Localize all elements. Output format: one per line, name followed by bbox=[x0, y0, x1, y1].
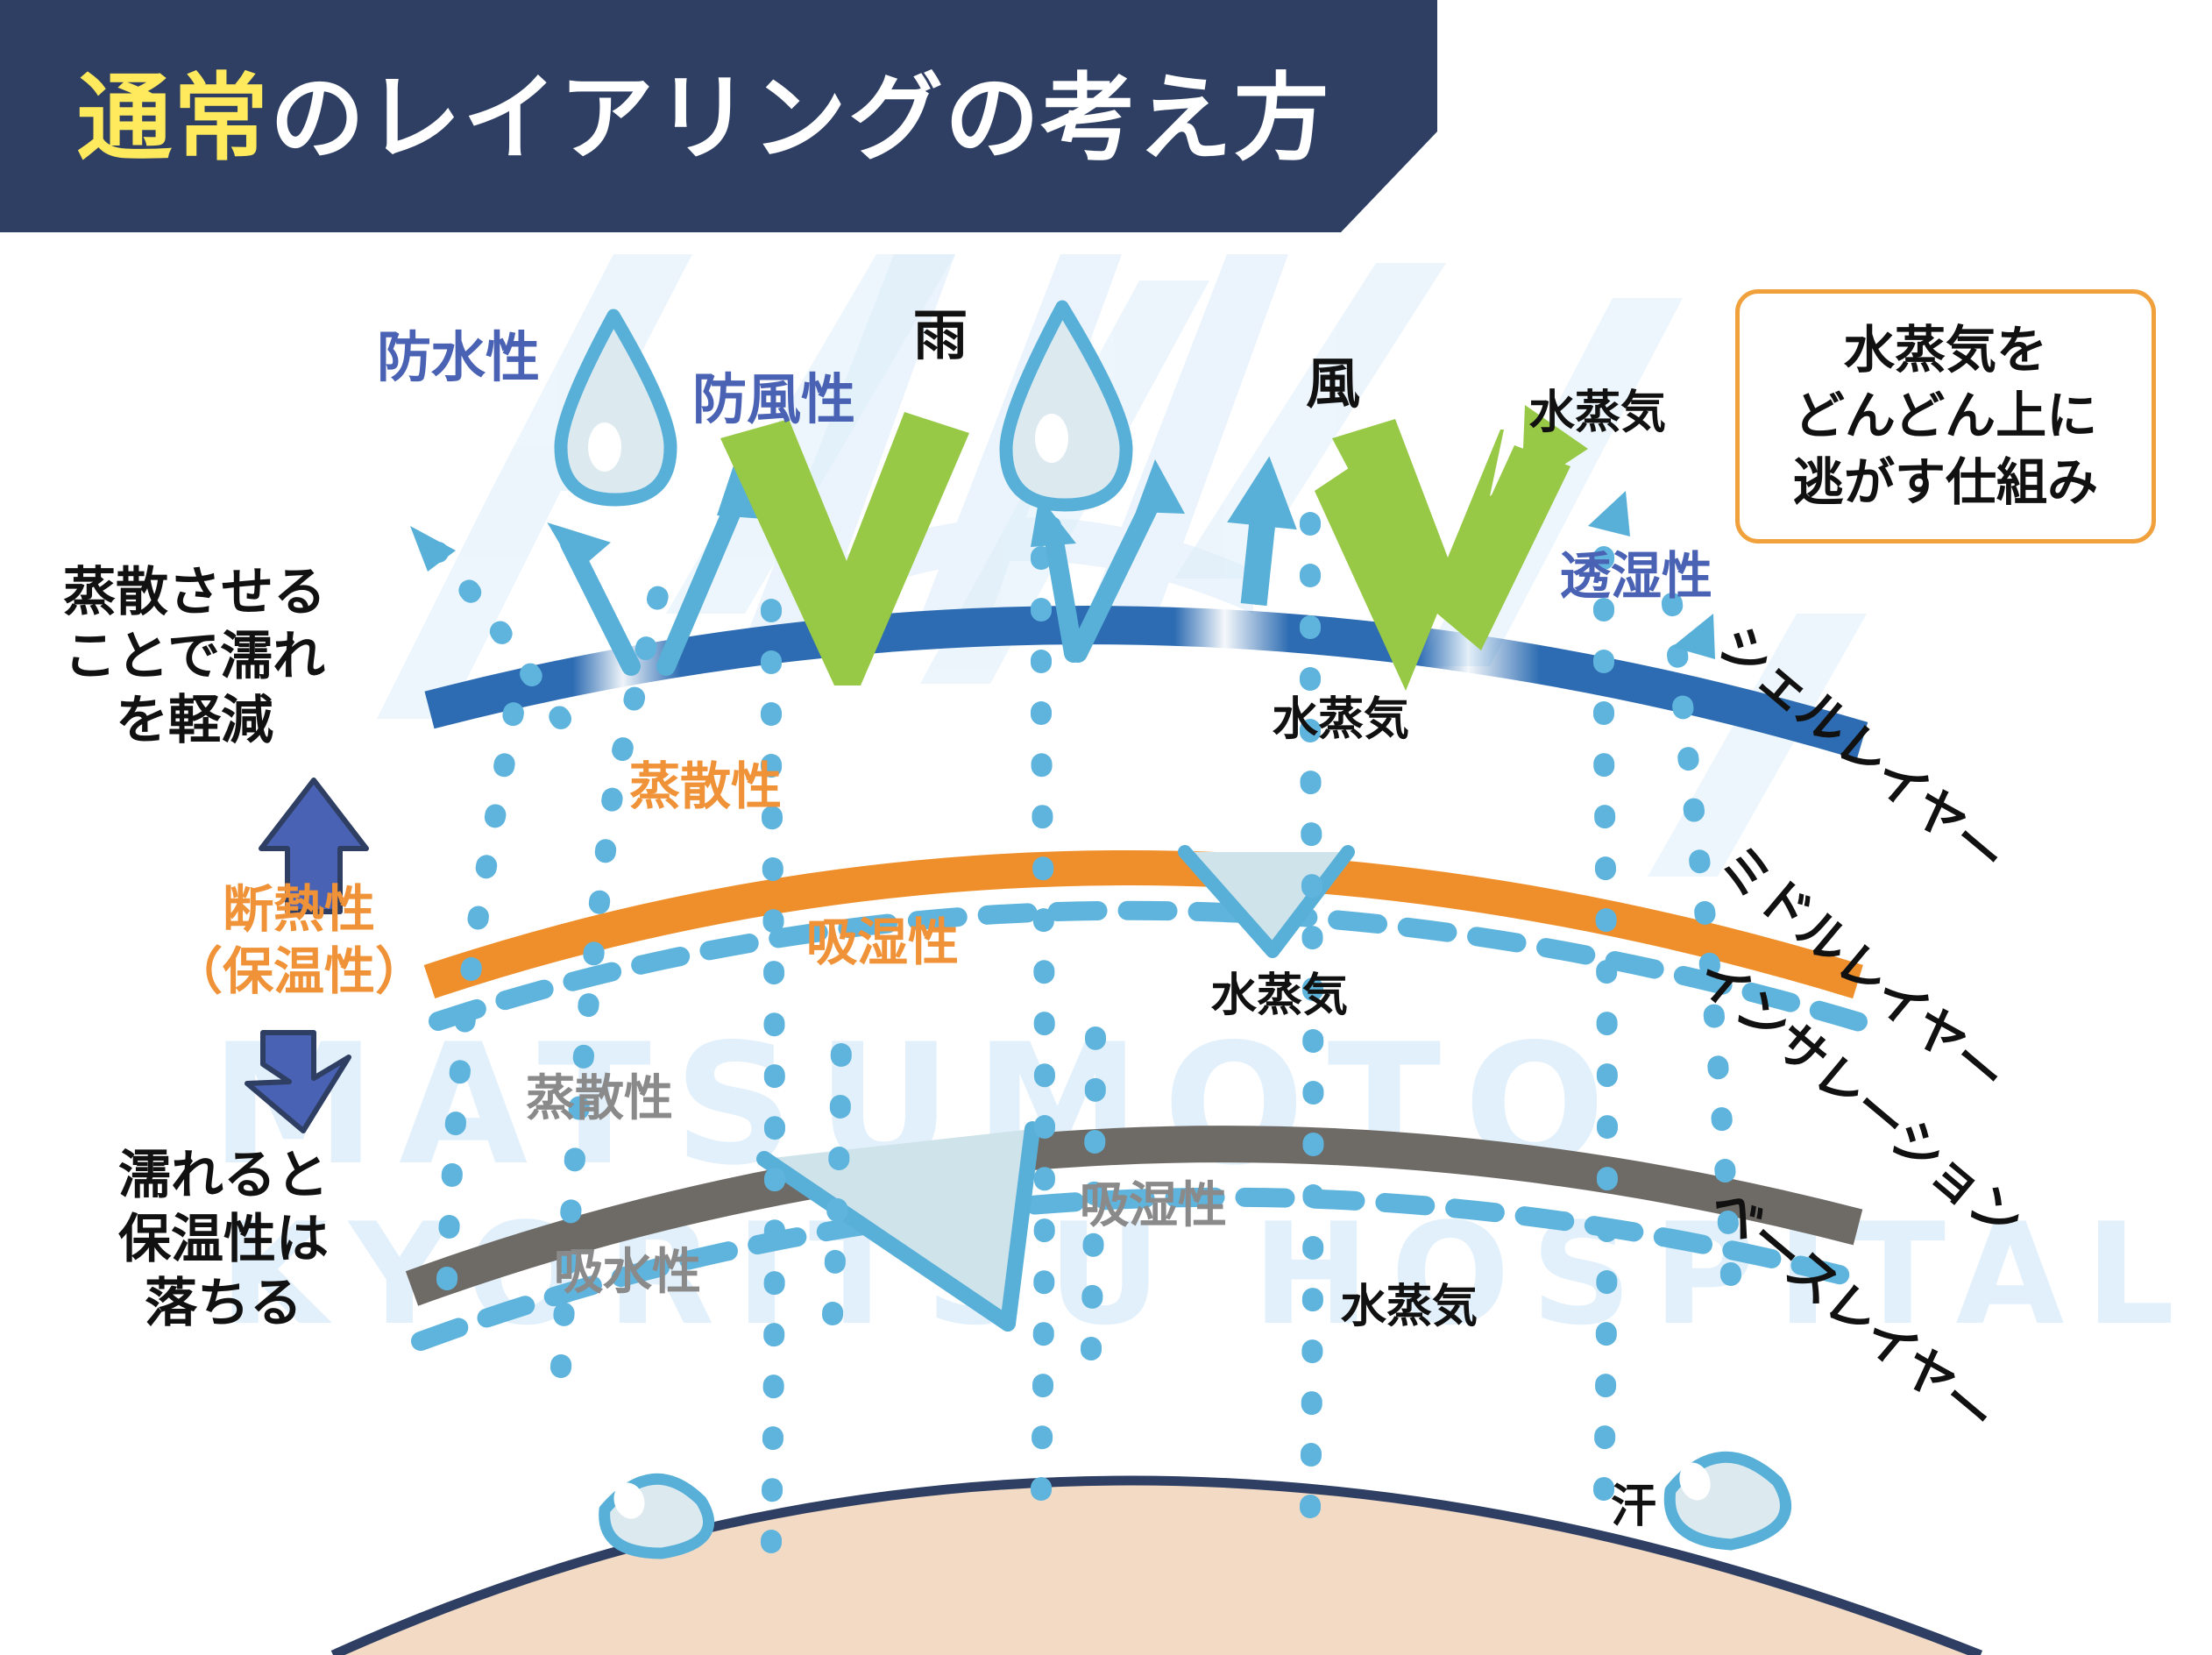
label-moisture-absorb-base: 吸湿性 bbox=[1080, 1176, 1227, 1236]
page-title: 通常のレイアリングの考え方 bbox=[77, 42, 1330, 179]
sweat-droplet-right bbox=[1670, 1457, 1785, 1545]
infographic-canvas: MATSUMOTO KYORITSU HOSPITAL bbox=[0, 0, 2212, 1655]
label-insulation: 断熱性 （保温性） bbox=[172, 878, 426, 1003]
label-windproof: 防風性 bbox=[692, 366, 855, 433]
label-vapor-top: 水蒸気 bbox=[1529, 386, 1666, 441]
vapor-arrow-left-icon bbox=[410, 526, 456, 572]
base-layer-moisture-wedge bbox=[764, 1129, 1032, 1324]
label-wind: 風 bbox=[1306, 351, 1360, 417]
middle-layer-moisture-wedge bbox=[1185, 852, 1348, 951]
label-sweat: 汗 bbox=[1611, 1480, 1656, 1535]
label-evaporation-base: 蒸散性 bbox=[526, 1069, 673, 1129]
label-vapor-shell: 水蒸気 bbox=[1273, 693, 1409, 748]
label-breathable: 透湿性 bbox=[1560, 545, 1712, 607]
page-title-accent: 通常 bbox=[77, 64, 270, 174]
label-water-absorb-base: 吸水性 bbox=[554, 1243, 701, 1303]
arrowhead-a-icon bbox=[547, 506, 616, 576]
layering-diagram bbox=[0, 0, 2212, 1655]
vapor-escape-callout-text: 水蒸気を どんどん上に 逃がす仕組み bbox=[1793, 317, 2098, 515]
insulation-down-arrow-icon bbox=[247, 1033, 349, 1131]
page-title-rest: のレイアリングの考え方 bbox=[270, 64, 1330, 174]
raindrop-right bbox=[1006, 307, 1126, 505]
note-wet-loses-warmth: 濡れると 保温性は 落ちる bbox=[118, 1144, 329, 1337]
sweat-droplet-left bbox=[605, 1478, 709, 1553]
label-vapor-middle: 水蒸気 bbox=[1211, 969, 1348, 1024]
note-evaporation-reduces-wet: 蒸散させる ことで濡れ を軽減 bbox=[63, 561, 326, 754]
label-evaporation-middle: 蒸散性 bbox=[629, 756, 782, 818]
label-moisture-absorb-middle: 吸湿性 bbox=[806, 912, 959, 974]
label-waterproof: 防水性 bbox=[377, 324, 540, 391]
arrowhead-d-icon bbox=[1136, 459, 1185, 514]
vapor-arrow-right-icon bbox=[1588, 491, 1630, 536]
label-vapor-base: 水蒸気 bbox=[1341, 1280, 1478, 1335]
vapor-escape-callout: 水蒸気を どんどん上に 逃がす仕組み bbox=[1735, 289, 2156, 543]
label-rain: 雨 bbox=[913, 302, 968, 369]
